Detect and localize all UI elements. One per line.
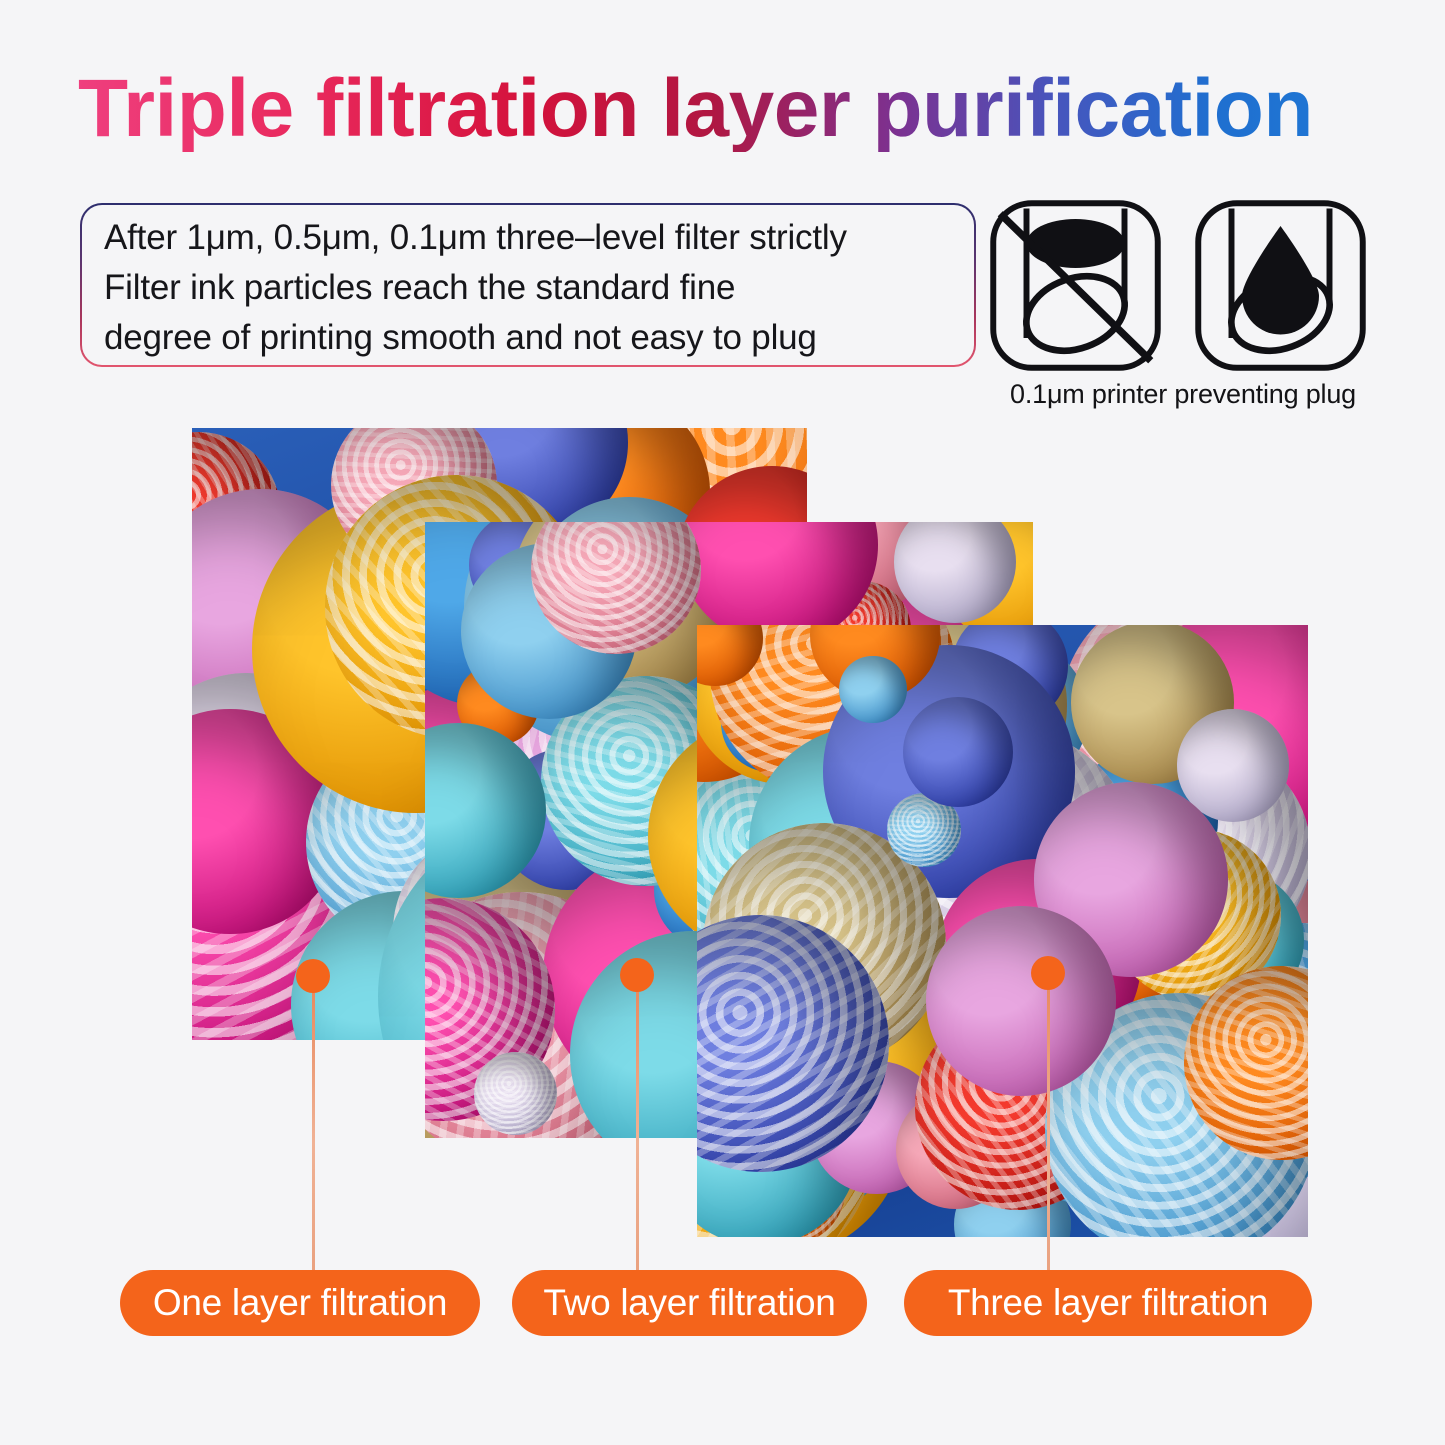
badge-caption: 0.1μm printer preventing plug <box>988 379 1378 410</box>
connector-dot <box>1031 956 1065 990</box>
filtration-label-text: One layer filtration <box>153 1282 447 1324</box>
description-line-1: After 1μm, 0.5μm, 0.1μm three–level filt… <box>104 213 952 263</box>
connector-line <box>312 976 315 1280</box>
filtration-label-3[interactable]: Three layer filtration <box>904 1270 1312 1336</box>
page-title: Triple filtration layer purification <box>78 66 1398 152</box>
filtration-label-text: Three layer filtration <box>948 1282 1268 1324</box>
no-clog-nozzle-icon <box>988 198 1163 373</box>
filtration-label-2[interactable]: Two layer filtration <box>512 1270 867 1336</box>
pigment-particle <box>926 906 1116 1096</box>
connector-dot <box>620 958 654 992</box>
description-line-2: Filter ink particles reach the standard … <box>104 263 952 313</box>
pigment-particle <box>903 697 1013 807</box>
ink-droplet-icon <box>1193 198 1368 373</box>
description-box-inner: After 1μm, 0.5μm, 0.1μm three–level filt… <box>82 205 974 365</box>
badge-row <box>988 198 1378 373</box>
connector-dot <box>296 959 330 993</box>
filtration-label-1[interactable]: One layer filtration <box>120 1270 480 1336</box>
pigment-particle <box>839 656 907 724</box>
badge-group: 0.1μm printer preventing plug <box>988 198 1378 410</box>
description-line-3: degree of printing smooth and not easy t… <box>104 313 952 363</box>
pigment-particle <box>474 1052 557 1135</box>
connector-line <box>636 975 639 1280</box>
connector-line <box>1047 973 1050 1280</box>
filtration-label-text: Two layer filtration <box>543 1282 835 1324</box>
panel-three-layer[interactable] <box>697 625 1308 1237</box>
description-box: After 1μm, 0.5μm, 0.1μm three–level filt… <box>80 203 976 367</box>
particle-field <box>697 625 1308 1237</box>
